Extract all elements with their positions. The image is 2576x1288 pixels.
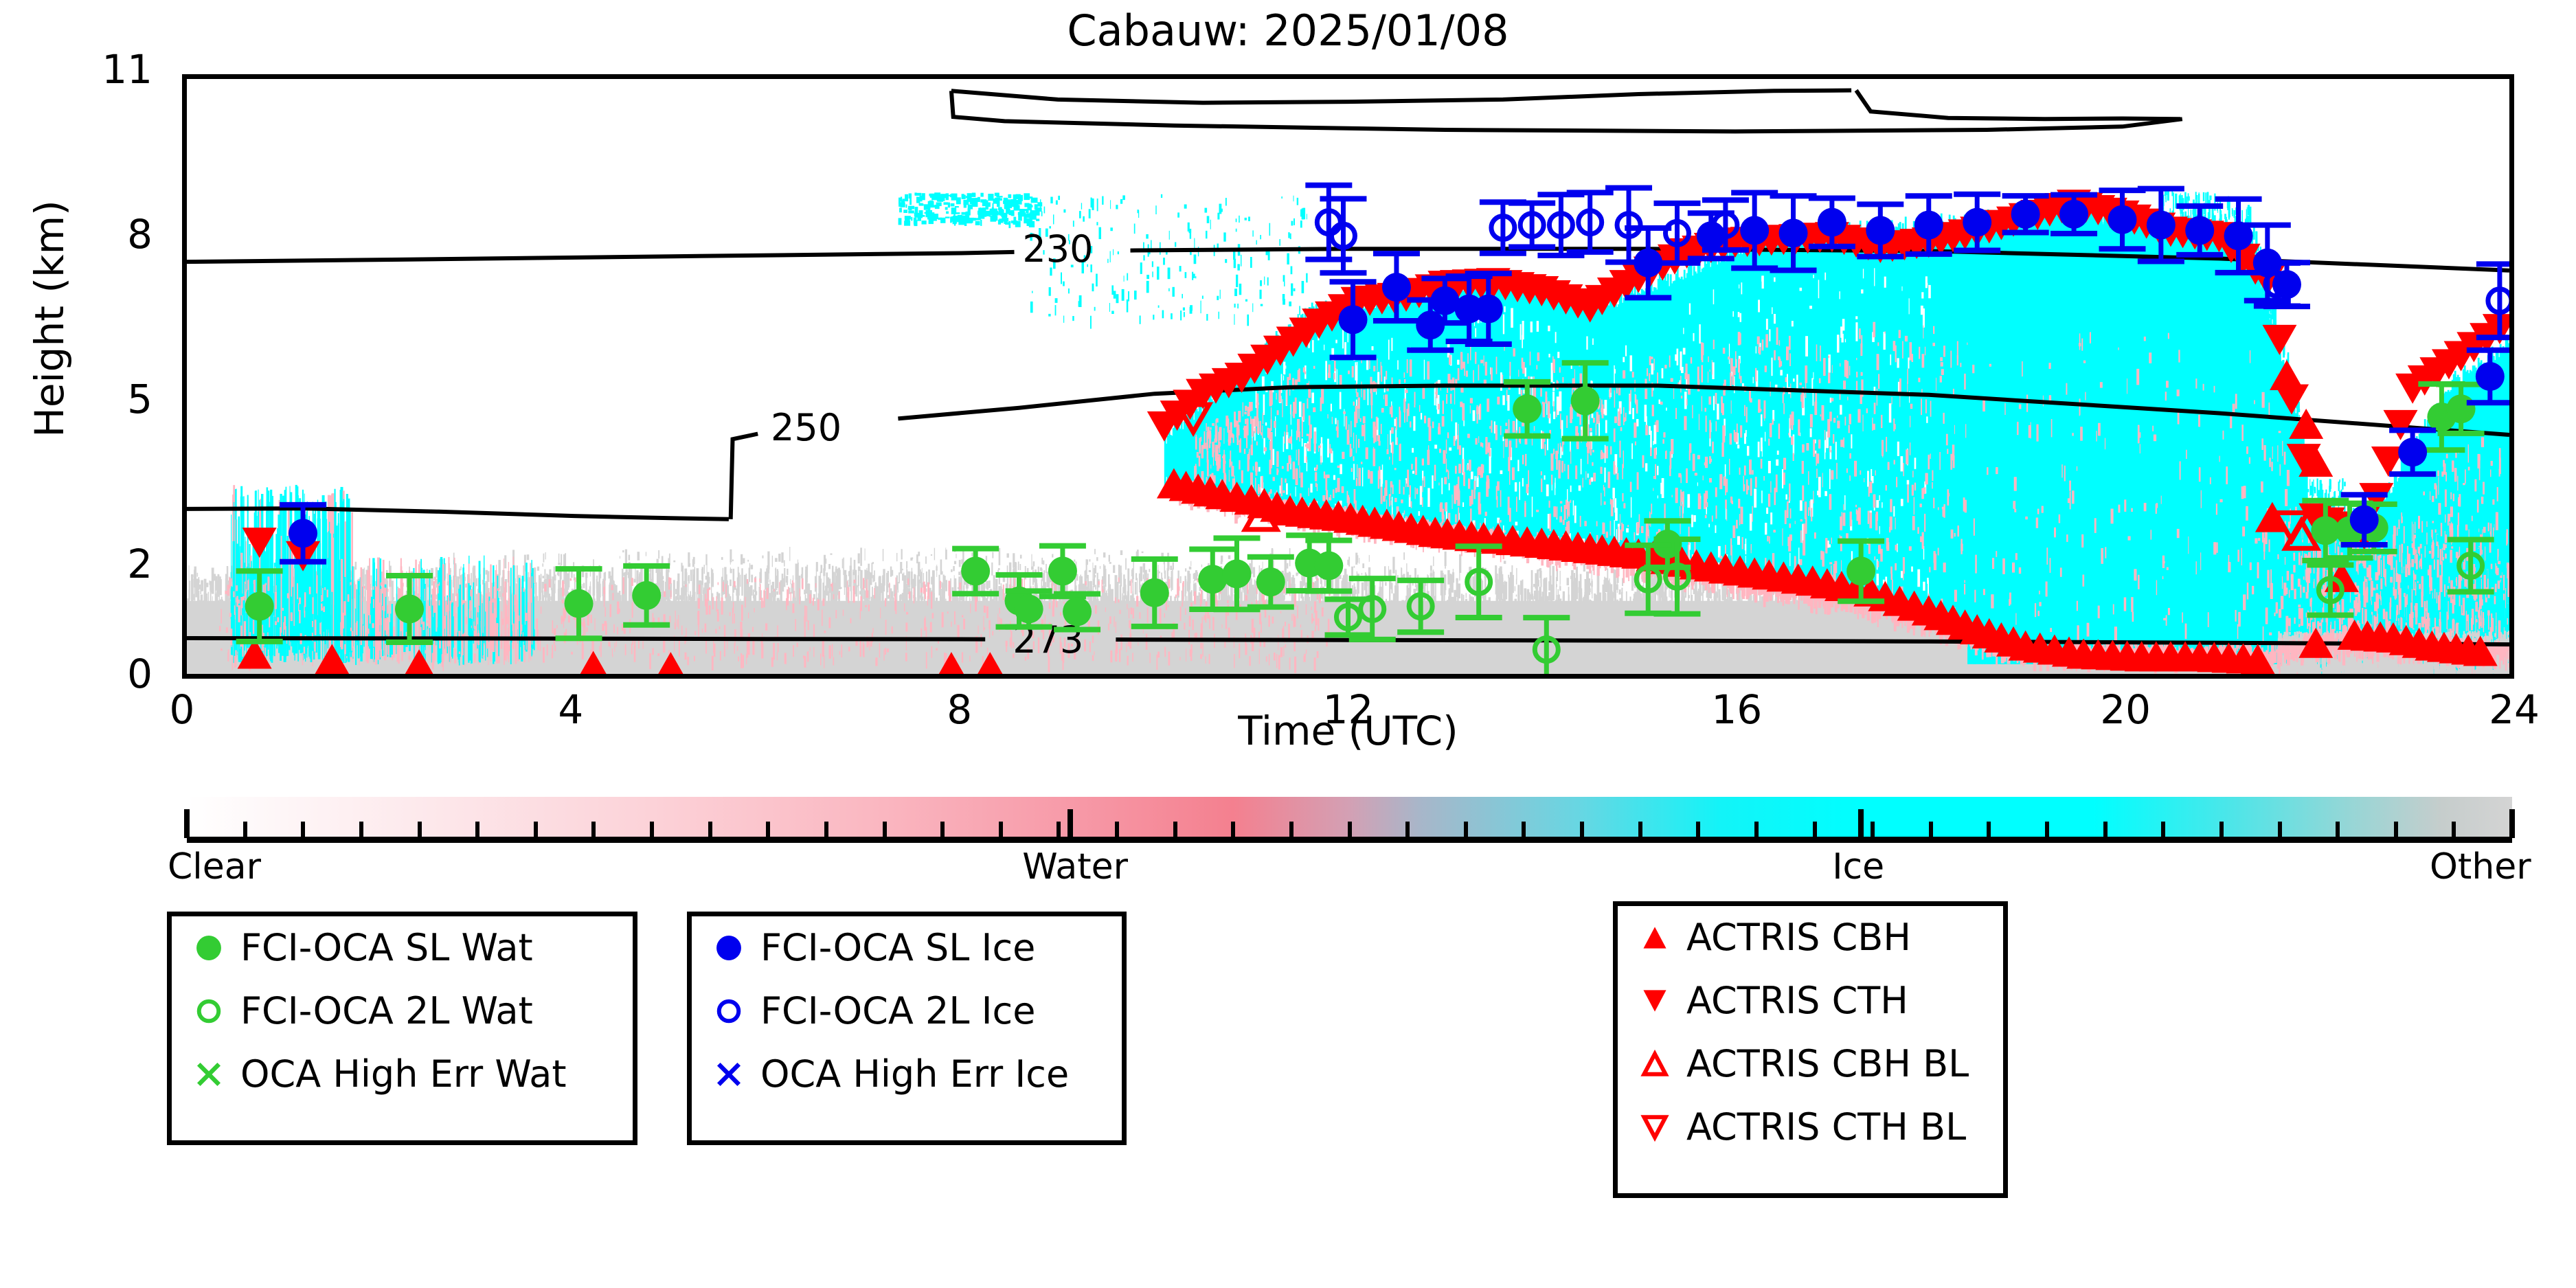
legend-item-label: FCI-OCA SL Wat (240, 929, 533, 967)
figure-root: Cabauw: 2025/01/08 Height (km) Time (UTC… (0, 0, 2576, 1288)
plot-canvas: 230250273 (187, 79, 2509, 674)
colorbar-tick (2103, 822, 2108, 838)
colorbar-tick (1289, 822, 1293, 838)
colorbar-tick (2219, 822, 2224, 838)
colorbar-tick (591, 822, 596, 838)
colorbar-tick (359, 822, 363, 838)
plot-area[interactable]: 230250273 (182, 74, 2514, 679)
open-circle-icon (190, 992, 228, 1030)
colorbar-tick (650, 822, 654, 838)
legend-item[interactable]: ACTRIS CBH BL (1618, 1032, 2003, 1096)
x-tick-label: 20 (2084, 690, 2167, 730)
legend-item[interactable]: OCA High Err Wat (172, 1043, 633, 1106)
x-icon (190, 1055, 228, 1094)
y-axis-tick-labels: 025811 (41, 74, 165, 679)
y-tick-label: 5 (127, 379, 152, 419)
colorbar-tick (1173, 822, 1177, 838)
colorbar-tick (999, 822, 1003, 838)
open-circle-icon (710, 992, 748, 1030)
legend-item-label: FCI-OCA 2L Ice (760, 993, 1035, 1030)
filled-down-triangle-icon (1636, 982, 1674, 1020)
legend-item-label: OCA High Err Ice (760, 1056, 1069, 1093)
colorbar-tick (1522, 822, 1526, 838)
colorbar-tick (2278, 822, 2282, 838)
colorbar-tick (1813, 822, 1817, 838)
isotherm-label: 230 (1022, 227, 1093, 271)
colorbar-tick (2045, 822, 2049, 838)
legend-ice: FCI-OCA SL IceFCI-OCA 2L IceOCA High Err… (687, 912, 1127, 1145)
legend-item[interactable]: OCA High Err Ice (692, 1043, 1122, 1106)
legend-item-label: ACTRIS CTH (1686, 982, 1908, 1019)
colorbar-tick (2452, 822, 2456, 838)
colorbar-tick (1754, 822, 1759, 838)
legend-item[interactable]: FCI-OCA SL Wat (172, 916, 633, 980)
isotherm-line (187, 252, 1015, 262)
legend-item-label: ACTRIS CBH BL (1686, 1046, 1969, 1083)
colorbar-tick (1638, 822, 1642, 838)
isotherm-line (1856, 91, 2180, 120)
colorbar-tick (2336, 822, 2340, 838)
legend-item[interactable]: FCI-OCA 2L Ice (692, 980, 1122, 1043)
colorbar-tick (708, 822, 712, 838)
legend-actris: ACTRIS CBHACTRIS CTHACTRIS CBH BLACTRIS … (1613, 901, 2008, 1198)
colorbar-tick (475, 822, 479, 838)
colorbar-tick (1987, 822, 1991, 838)
isotherm-line (731, 434, 758, 519)
y-tick-label: 8 (127, 214, 152, 254)
colorbar-tick (534, 822, 538, 838)
chart-title: Cabauw: 2025/01/08 (0, 5, 2576, 56)
legend-item-label: OCA High Err Wat (240, 1056, 567, 1093)
open-down-triangle-icon (1636, 1108, 1674, 1146)
colorbar-tick (1057, 822, 1061, 838)
colorbar-tick (1580, 822, 1584, 838)
colorbar-tick (1871, 822, 1875, 838)
filled-up-triangle-icon (1636, 918, 1674, 957)
colorbar-label: Ice (1832, 846, 1884, 888)
colorbar-tick (824, 822, 828, 838)
colorbar-tick (1405, 822, 1410, 838)
x-icon (710, 1055, 748, 1094)
colorbar-label: Other (2430, 846, 2531, 888)
colorbar-tick (1115, 822, 1119, 838)
colorbar-tick (940, 822, 945, 838)
colorbar-tick (243, 822, 247, 838)
colorbar-major-tick (1067, 809, 1073, 838)
legend-item[interactable]: ACTRIS CTH (1618, 969, 2003, 1032)
x-axis-tick-labels: 04812162024 (182, 687, 2514, 735)
colorbar-tick (1464, 822, 1468, 838)
legend-item[interactable]: FCI-OCA SL Ice (692, 916, 1122, 980)
legend-item-label: FCI-OCA 2L Wat (240, 993, 533, 1030)
colorbar-tick (418, 822, 422, 838)
colorbar-tick (766, 822, 770, 838)
y-tick-label: 0 (127, 654, 152, 694)
colorbar-tick (2161, 822, 2165, 838)
legend-item-label: ACTRIS CTH BL (1686, 1109, 1966, 1146)
x-tick-label: 12 (1307, 690, 1390, 730)
legend-item[interactable]: FCI-OCA 2L Wat (172, 980, 633, 1043)
open-up-triangle-icon (1636, 1045, 1674, 1083)
colorbar-tick (301, 822, 305, 838)
legend-item-label: ACTRIS CBH (1686, 919, 1911, 956)
legend-item[interactable]: ACTRIS CBH (1618, 906, 2003, 969)
isotherm-label: 250 (771, 406, 841, 449)
y-tick-label: 2 (127, 544, 152, 584)
filled-circle-icon (190, 929, 228, 967)
colorbar-tick (1348, 822, 1352, 838)
y-tick-label: 11 (102, 49, 152, 89)
colorbar-tick (1231, 822, 1235, 838)
x-tick-label: 4 (530, 690, 612, 730)
x-tick-label: 24 (2473, 690, 2555, 730)
filled-circle-icon (710, 929, 748, 967)
x-tick-label: 0 (141, 690, 223, 730)
colorbar-tick (1929, 822, 1933, 838)
colorbar-tick (883, 822, 887, 838)
x-tick-label: 16 (1695, 690, 1778, 730)
legend-item-label: FCI-OCA SL Ice (760, 929, 1035, 967)
colorbar-label: Water (1022, 846, 1128, 888)
colorbar-major-tick (184, 809, 190, 838)
colorbar-major-tick (2509, 809, 2515, 838)
legend-item[interactable]: ACTRIS CTH BL (1618, 1096, 2003, 1159)
colorbar-label: Clear (168, 846, 261, 888)
isotherm-line (951, 91, 1851, 103)
colorbar-tick (2394, 822, 2398, 838)
colorbar-major-tick (1858, 809, 1864, 838)
colorbar-tick (1696, 822, 1700, 838)
legend-water: FCI-OCA SL WatFCI-OCA 2L WatOCA High Err… (167, 912, 637, 1145)
x-tick-label: 8 (918, 690, 1001, 730)
